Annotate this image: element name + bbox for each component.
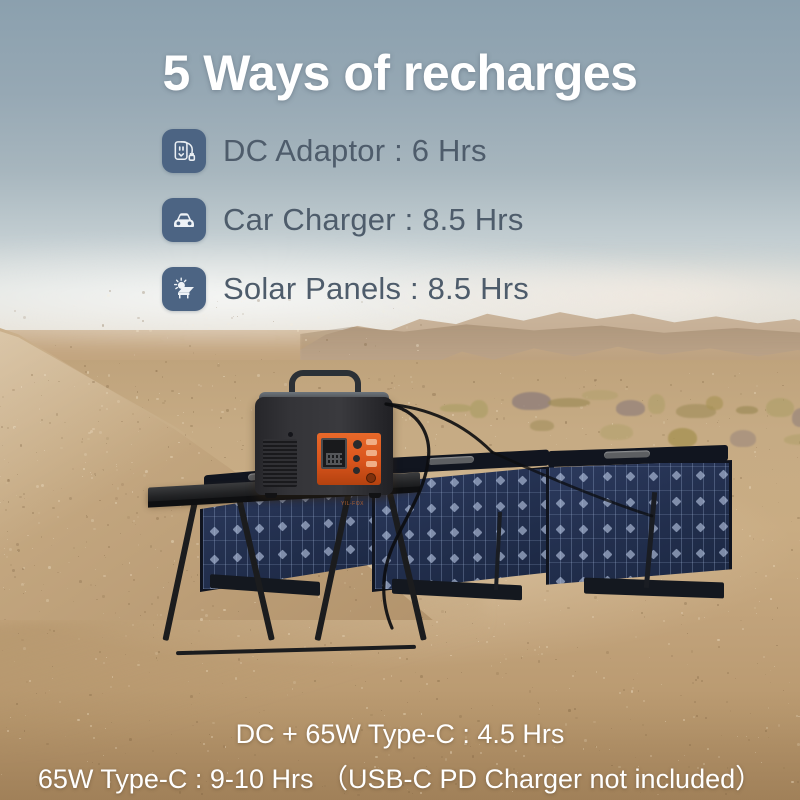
car-icon bbox=[162, 198, 206, 242]
station-foot-right bbox=[369, 493, 381, 498]
power-knob bbox=[366, 473, 376, 483]
lcd-display bbox=[321, 438, 347, 469]
ac-button-2 bbox=[366, 450, 377, 456]
ac-button-3 bbox=[366, 461, 377, 467]
panel-foot-left bbox=[210, 574, 320, 596]
portable-power-station: YIL-FOX bbox=[255, 370, 393, 495]
footer-line-1: DC + 65W Type-C : 4.5 Hrs bbox=[0, 719, 800, 750]
dc-port-round bbox=[353, 440, 362, 449]
page-title: 5 Ways of recharges bbox=[0, 44, 800, 102]
usb-port-2 bbox=[353, 467, 360, 474]
status-led bbox=[288, 432, 293, 437]
solar-panel-right bbox=[546, 460, 732, 590]
solar-cell-dots-right bbox=[549, 463, 729, 587]
product-marketing-image: YIL-FOX 5 Ways of recharges bbox=[0, 0, 800, 800]
station-body: YIL-FOX bbox=[255, 397, 393, 495]
station-foot-left bbox=[265, 493, 277, 498]
recharge-method-label: DC Adaptor : 6 Hrs bbox=[223, 133, 487, 169]
power-outlet-icon bbox=[162, 129, 206, 173]
brand-logo: YIL-FOX bbox=[341, 501, 364, 507]
recharge-method-dc-adaptor: DC Adaptor : 6 Hrs bbox=[162, 126, 682, 176]
solar-panel-icon bbox=[162, 267, 206, 311]
recharge-method-label: Solar Panels : 8.5 Hrs bbox=[223, 271, 529, 307]
recharge-method-solar-panels: Solar Panels : 8.5 Hrs bbox=[162, 264, 682, 314]
panel-foot-right bbox=[584, 578, 724, 599]
recharge-method-label: Car Charger : 8.5 Hrs bbox=[223, 202, 524, 238]
control-panel bbox=[317, 433, 381, 485]
ventilation-grille bbox=[263, 439, 297, 487]
recharge-methods-list: DC Adaptor : 6 Hrs Car Charger : 8.5 Hrs bbox=[162, 126, 682, 333]
footer-line-2: 65W Type-C : 9-10 Hrs （USB-C PD Charger … bbox=[0, 757, 800, 796]
recharge-method-car-charger: Car Charger : 8.5 Hrs bbox=[162, 195, 682, 245]
ac-button-1 bbox=[366, 439, 377, 445]
usb-port-1 bbox=[353, 455, 360, 462]
